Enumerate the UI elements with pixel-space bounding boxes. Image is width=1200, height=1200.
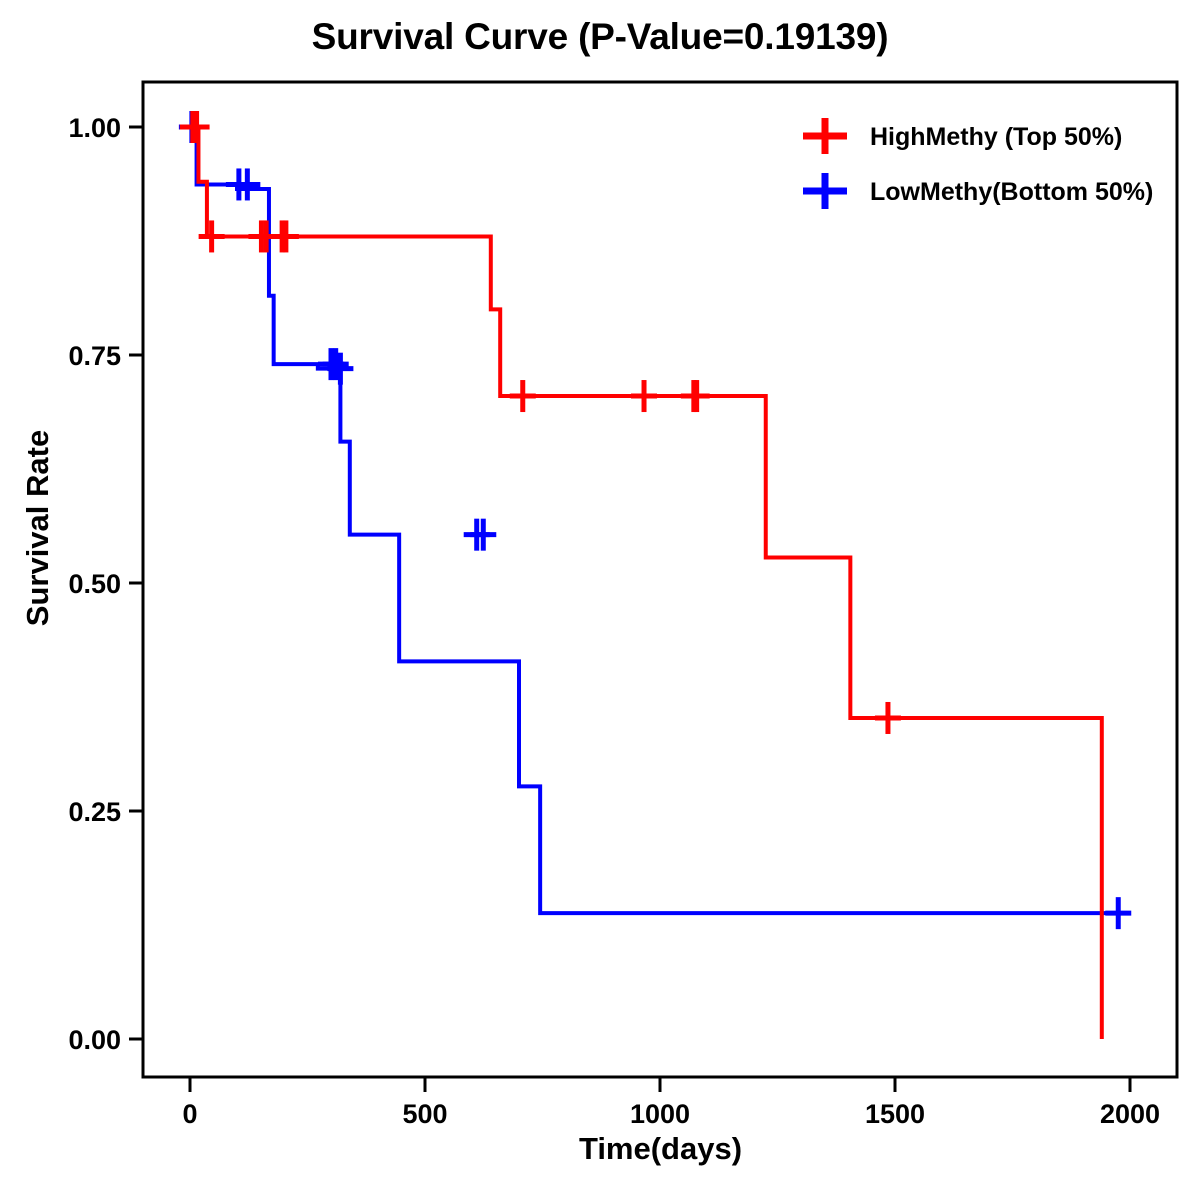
x-tick-label: 500 [402, 1099, 447, 1129]
plot-frame [143, 82, 1177, 1077]
censor-plus-marker-icon [684, 380, 710, 412]
y-tick-label: 0.00 [68, 1025, 121, 1055]
x-tick-label: 0 [182, 1099, 197, 1129]
plus-marker-icon [803, 118, 847, 154]
x-tick-label: 2000 [1100, 1099, 1160, 1129]
legend: HighMethy (Top 50%)LowMethy(Bottom 50%) [803, 118, 1153, 209]
x-tick-label: 1500 [865, 1099, 925, 1129]
y-tick-label: 0.75 [68, 341, 121, 371]
legend-item[interactable]: LowMethy(Bottom 50%) [803, 173, 1153, 209]
censor-plus-marker-icon [470, 519, 496, 551]
x-axis-ticks: 0500100015002000 [182, 1077, 1160, 1129]
y-tick-label: 1.00 [68, 113, 121, 143]
y-tick-label: 0.50 [68, 569, 121, 599]
censor-plus-marker-icon [199, 220, 225, 252]
censor-plus-marker-icon [510, 380, 536, 412]
censor-plus-marker-icon [323, 348, 349, 380]
survival-step-line [190, 127, 1102, 1039]
censor-plus-marker-icon [631, 380, 657, 412]
censor-plus-marker-icon [1105, 897, 1131, 929]
censor-plus-marker-icon [184, 111, 210, 143]
survival-step-line [190, 127, 1121, 913]
y-tick-label: 0.25 [68, 797, 121, 827]
legend-item[interactable]: HighMethy (Top 50%) [803, 118, 1122, 154]
censor-plus-marker-icon [875, 702, 901, 734]
survival-curve-figure: Survival Curve (P-Value=0.19139) Surviva… [0, 0, 1200, 1200]
legend-label: HighMethy (Top 50%) [870, 123, 1122, 151]
x-tick-label: 1000 [630, 1099, 690, 1129]
plus-marker-icon [803, 173, 847, 209]
y-axis-ticks: 0.000.250.500.751.00 [68, 113, 143, 1055]
legend-label: LowMethy(Bottom 50%) [870, 178, 1153, 206]
series-curves [179, 111, 1131, 1039]
censor-plus-marker-icon [273, 220, 299, 252]
plot-area: 0.000.250.500.751.00 0500100015002000 Hi… [0, 0, 1200, 1200]
